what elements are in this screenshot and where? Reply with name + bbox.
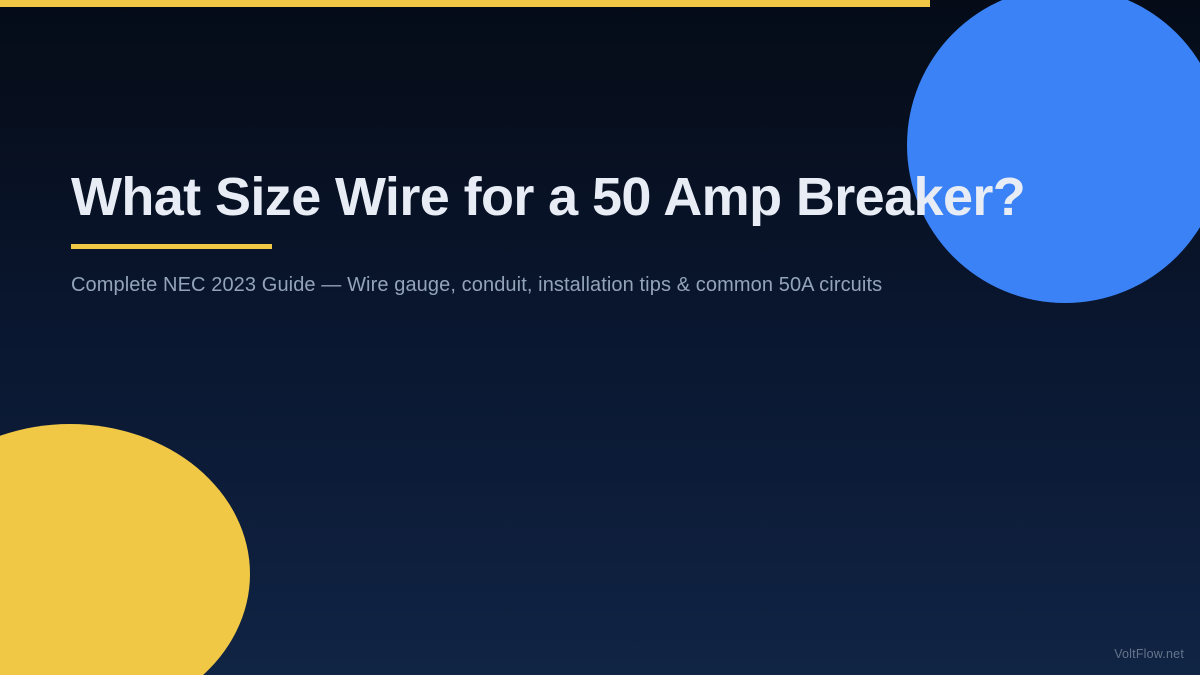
hero-content: What Size Wire for a 50 Amp Breaker? Com… <box>71 168 1071 299</box>
page-subtitle: Complete NEC 2023 Guide — Wire gauge, co… <box>71 272 1071 299</box>
top-accent-bar <box>0 0 930 7</box>
yellow-ellipse-decoration <box>0 424 250 675</box>
hero-slide: What Size Wire for a 50 Amp Breaker? Com… <box>0 0 1200 675</box>
page-title: What Size Wire for a 50 Amp Breaker? <box>71 168 1071 226</box>
yellow-title-underline <box>71 244 272 249</box>
watermark-label: VoltFlow.net <box>1114 647 1184 661</box>
